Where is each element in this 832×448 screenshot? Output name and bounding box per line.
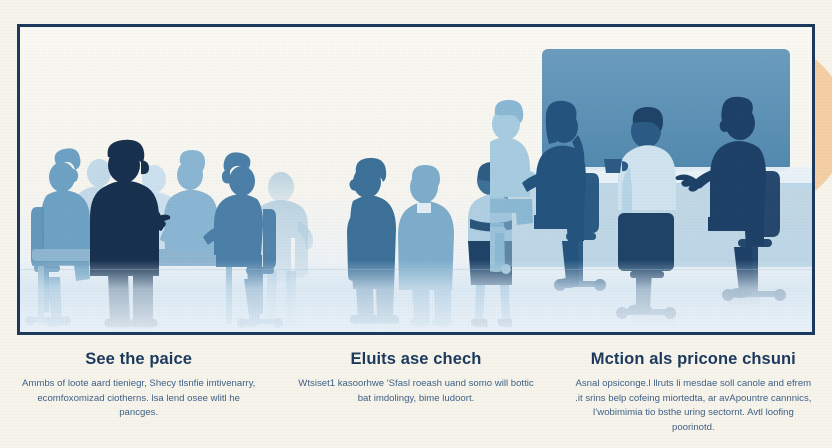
- caption-columns: See the paice Ammbs of loote aard tienie…: [0, 344, 832, 448]
- caption-body-2: Wtsiset1 kasoorhwe 'Sfasl roeash uand so…: [295, 377, 536, 406]
- caption-body-3: Asnal opsiconge.l llruts li mesdae soll …: [573, 377, 814, 435]
- caption-body-1: Ammbs of loote aard tieniegr, Shecy tlsn…: [18, 377, 259, 421]
- caption-heading-3: Mction als pricone chsuni: [591, 350, 796, 368]
- floor-reflection: [20, 260, 812, 332]
- illustration-canvas: [20, 27, 812, 332]
- caption-column-2: Eluits ase chech Wtsiset1 kasoorhwe 'Sfa…: [277, 344, 554, 448]
- caption-column-1: See the paice Ammbs of loote aard tienie…: [0, 344, 277, 448]
- caption-column-3: Mction als pricone chsuni Asnal opsicong…: [555, 344, 832, 448]
- caption-heading-1: See the paice: [85, 350, 192, 368]
- illustration-frame: [17, 24, 815, 335]
- page-canvas: See the paice Ammbs of loote aard tienie…: [0, 0, 832, 448]
- caption-heading-2: Eluits ase chech: [351, 350, 482, 368]
